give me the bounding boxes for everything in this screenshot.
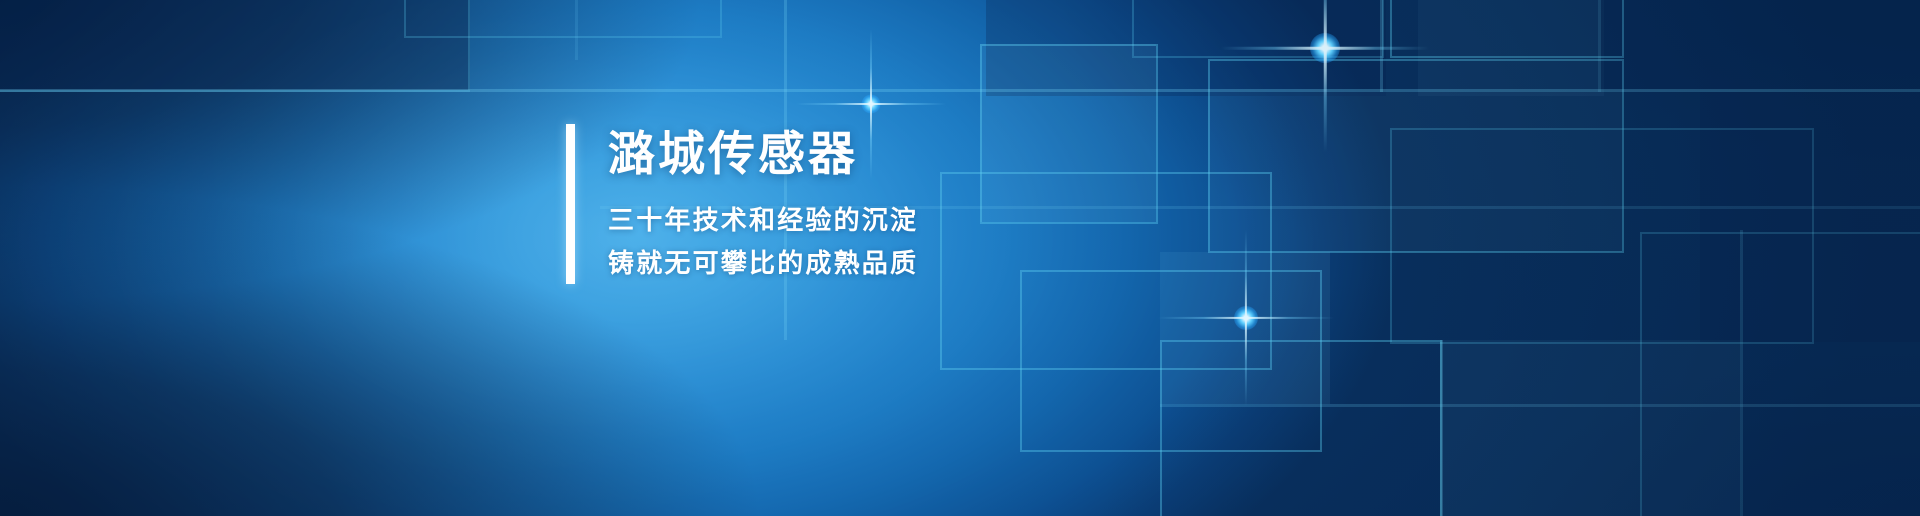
- hero-text-column: 潞城传感器 三十年技术和经验的沉淀 铸就无可攀比的成熟品质: [608, 124, 918, 284]
- subtitle-line-2: 铸就无可攀比的成熟品质: [608, 242, 918, 284]
- hero-text-block: 潞城传感器 三十年技术和经验的沉淀 铸就无可攀比的成熟品质: [566, 124, 918, 284]
- page-title: 潞城传感器: [608, 126, 918, 181]
- background-vignette: [0, 0, 1920, 516]
- hero-banner: 潞城传感器 三十年技术和经验的沉淀 铸就无可攀比的成熟品质: [0, 0, 1920, 516]
- accent-bar: [566, 124, 575, 284]
- subtitle-line-1: 三十年技术和经验的沉淀: [608, 199, 918, 241]
